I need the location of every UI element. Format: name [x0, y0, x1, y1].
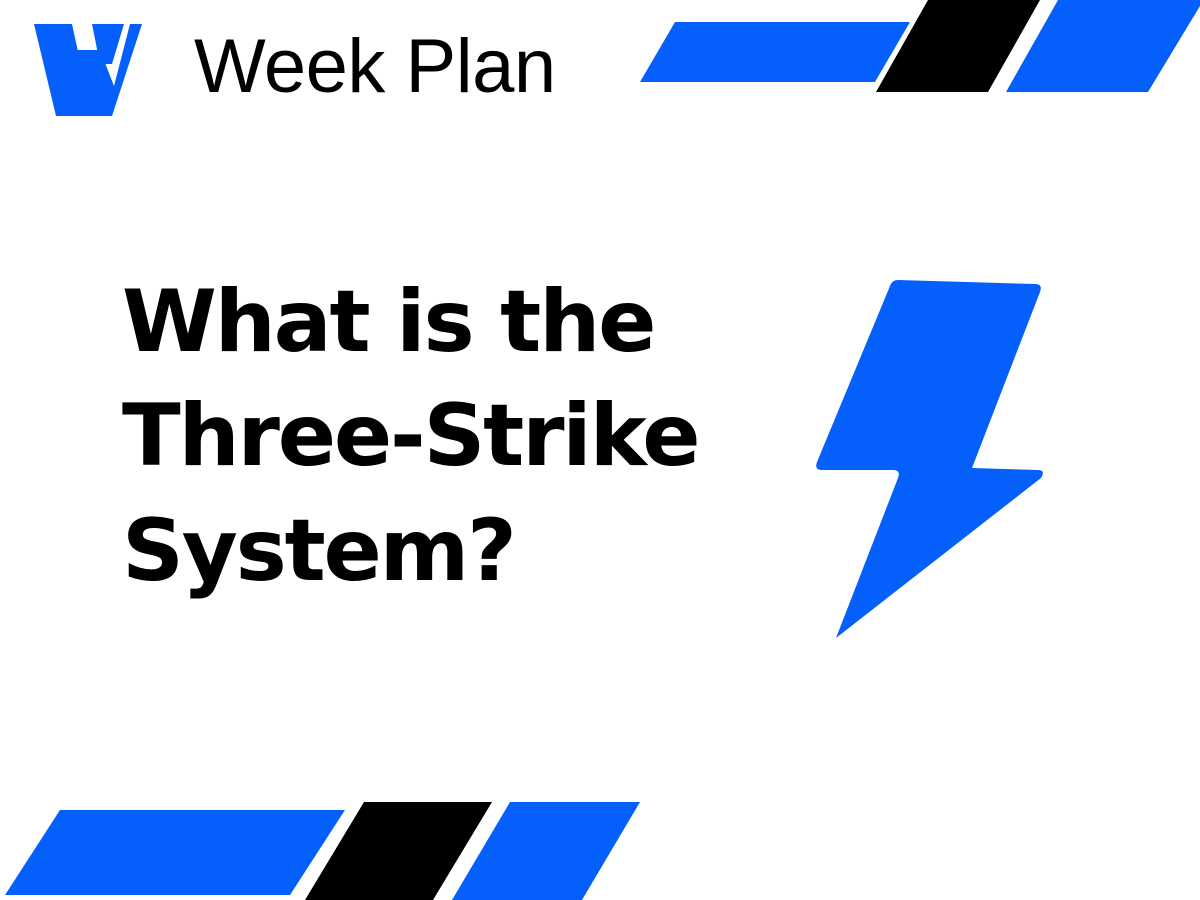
page-title-line-3: System?: [122, 494, 742, 608]
slide-canvas: Week Plan What is the Three-Strike Syste…: [0, 0, 1200, 900]
page-title-line-2: Three-Strike: [122, 379, 742, 493]
week-plan-w-logo-icon: [30, 22, 142, 116]
page-title-line-1: What is the: [122, 265, 742, 379]
decoration-ribbon-top-right: [640, 0, 1200, 110]
page-title: What is the Three-Strike System?: [122, 265, 742, 608]
brand-lockup[interactable]: Week Plan: [30, 14, 556, 124]
lightning-bolt-icon: [812, 272, 1044, 640]
brand-wordmark: Week Plan: [194, 29, 556, 105]
decoration-ribbon-bottom-left: [0, 790, 640, 900]
